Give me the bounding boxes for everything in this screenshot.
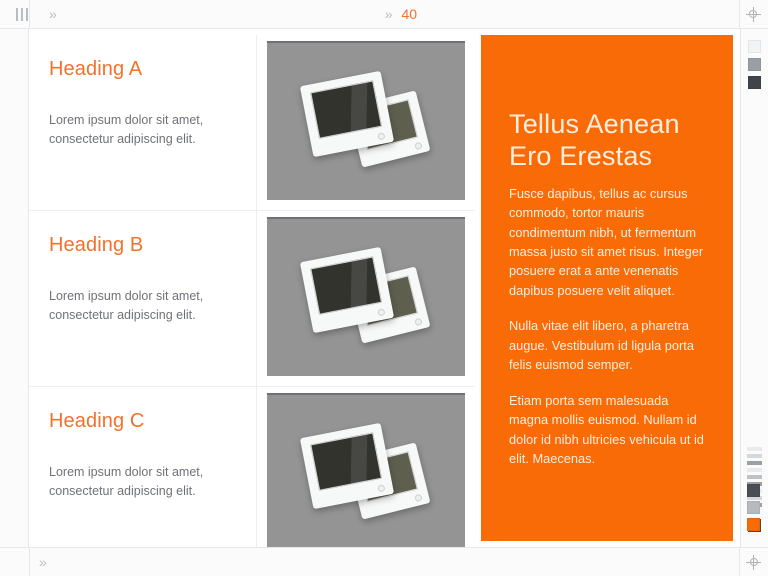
bottom-toolbar: »	[0, 547, 768, 576]
style-bar-1[interactable]	[747, 447, 762, 451]
panel-title: Tellus Aenean Ero Erestas	[509, 109, 709, 173]
style-bar-2[interactable]	[747, 454, 762, 458]
bar-1	[16, 8, 18, 21]
double-chevron-right-icon-top-right[interactable]: »	[385, 7, 392, 21]
row-heading: Heading B	[49, 233, 232, 257]
swatch-dark[interactable]	[748, 76, 761, 89]
bottombar-divider-left	[29, 548, 30, 576]
photo-slide-front-window	[310, 80, 382, 138]
table-row[interactable]: Heading A Lorem ipsum dolor sit amet, co…	[29, 35, 475, 211]
photo-slide-front-glint	[351, 82, 368, 132]
photo-slide-front	[300, 422, 394, 508]
swatch-light[interactable]	[748, 40, 761, 53]
right-sidebar	[740, 29, 768, 547]
double-chevron-right-icon-bottom-left[interactable]: »	[39, 555, 46, 569]
photo-slide-front-window	[310, 432, 382, 490]
crosshair-icon-top[interactable]	[746, 7, 761, 22]
table-row[interactable]: Heading C Lorem ipsum dolor sit amet, co…	[29, 387, 475, 562]
table-row[interactable]: Heading B Lorem ipsum dolor sit amet, co…	[29, 211, 475, 387]
bar-2	[21, 8, 23, 21]
photo-slide-back-dot	[414, 141, 422, 149]
photo-slide-front	[300, 246, 394, 332]
photo-slide-front-glint	[351, 434, 368, 484]
table-cell-image[interactable]	[257, 211, 475, 386]
table-cell-text[interactable]: Heading B Lorem ipsum dolor sit amet, co…	[29, 211, 257, 386]
slide-canvas[interactable]: Heading A Lorem ipsum dolor sit amet, co…	[29, 29, 740, 547]
bottombar-divider-right	[739, 548, 740, 576]
style-bar-4[interactable]	[747, 468, 762, 472]
crosshair-ring	[750, 558, 758, 566]
row-body: Lorem ipsum dolor sit amet, consectetur …	[49, 111, 232, 150]
table-cell-image[interactable]	[257, 387, 475, 562]
photo-slide-front	[300, 70, 394, 156]
panel-paragraph: Nulla vitae elit libero, a pharetra augu…	[509, 316, 709, 374]
table-cell-image[interactable]	[257, 35, 475, 210]
table-cell-text[interactable]: Heading C Lorem ipsum dolor sit amet, co…	[29, 387, 257, 562]
table-cell-text[interactable]: Heading A Lorem ipsum dolor sit amet, co…	[29, 35, 257, 210]
slide-editor-window: » » 40	[0, 0, 768, 576]
row-heading: Heading C	[49, 409, 232, 433]
double-chevron-right-icon-top-left[interactable]: »	[49, 7, 56, 21]
photo-slide-back-dot	[414, 317, 422, 325]
photo-art	[306, 426, 426, 522]
panel-paragraph: Etiam porta sem malesuada magna mollis e…	[509, 391, 709, 469]
row-body: Lorem ipsum dolor sit amet, consectetur …	[49, 287, 232, 326]
photo-slide-front-glint	[351, 258, 368, 308]
triple-bar-icon[interactable]	[16, 8, 28, 21]
style-bar-3[interactable]	[747, 461, 762, 465]
photo-slide-front-dot	[377, 132, 385, 140]
left-sidebar	[0, 29, 29, 547]
feature-table: Heading A Lorem ipsum dolor sit amet, co…	[29, 29, 475, 547]
slide-layout: Heading A Lorem ipsum dolor sit amet, co…	[29, 29, 740, 547]
crosshair-icon-bottom[interactable]	[746, 555, 761, 570]
color-swatch-dark-2[interactable]	[747, 484, 760, 497]
color-swatch-orange[interactable]	[747, 518, 760, 531]
photos-placeholder-icon[interactable]	[267, 393, 465, 552]
bar-3	[26, 8, 28, 21]
style-bar-5[interactable]	[747, 475, 762, 479]
toolbar-divider-right	[739, 0, 740, 29]
top-toolbar: » » 40	[0, 0, 768, 29]
swatch-medium[interactable]	[748, 58, 761, 71]
photo-slide-back-dot	[414, 493, 422, 501]
photo-art	[306, 74, 426, 170]
row-body: Lorem ipsum dolor sit amet, consectetur …	[49, 463, 232, 502]
photo-slide-front-window	[310, 256, 382, 314]
highlight-panel-wrapper: Tellus Aenean Ero Erestas Fusce dapibus,…	[475, 29, 740, 547]
color-swatch-gray[interactable]	[747, 501, 760, 514]
crosshair-ring	[749, 10, 757, 18]
slide-counter: 40	[402, 6, 418, 22]
highlight-panel[interactable]: Tellus Aenean Ero Erestas Fusce dapibus,…	[481, 35, 733, 541]
row-heading: Heading A	[49, 57, 232, 81]
photos-placeholder-icon[interactable]	[267, 41, 465, 200]
toolbar-divider-left	[29, 0, 30, 29]
photo-slide-front-dot	[377, 308, 385, 316]
panel-paragraph: Fusce dapibus, tellus ac cursus commodo,…	[509, 184, 709, 301]
photo-slide-front-dot	[377, 484, 385, 492]
photo-art	[306, 250, 426, 346]
photos-placeholder-icon[interactable]	[267, 217, 465, 376]
